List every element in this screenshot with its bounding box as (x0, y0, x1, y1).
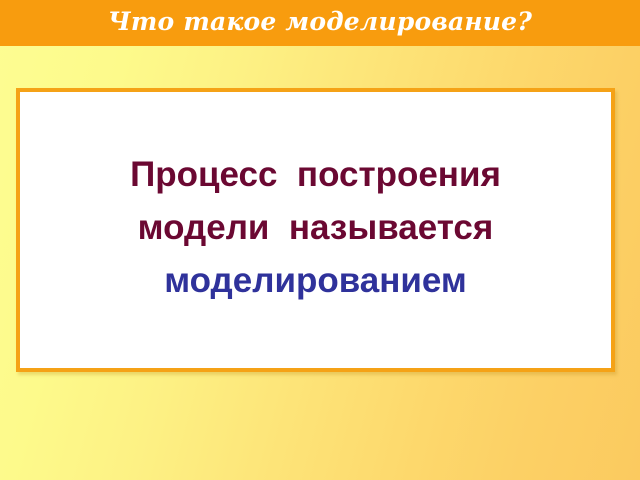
title-bar: Что такое моделирование? (0, 0, 640, 46)
statement-line-1: Процесс построения (130, 148, 501, 201)
statement-line-3: моделированием (164, 254, 467, 307)
content-card: Процесс построения модели называется мод… (16, 88, 615, 372)
statement-block: Процесс построения модели называется мод… (20, 92, 611, 368)
page-title: Что такое моделирование? (0, 0, 640, 46)
statement-line-2: модели называется (138, 201, 494, 254)
slide-canvas: Что такое моделирование? Процесс построе… (0, 0, 640, 480)
